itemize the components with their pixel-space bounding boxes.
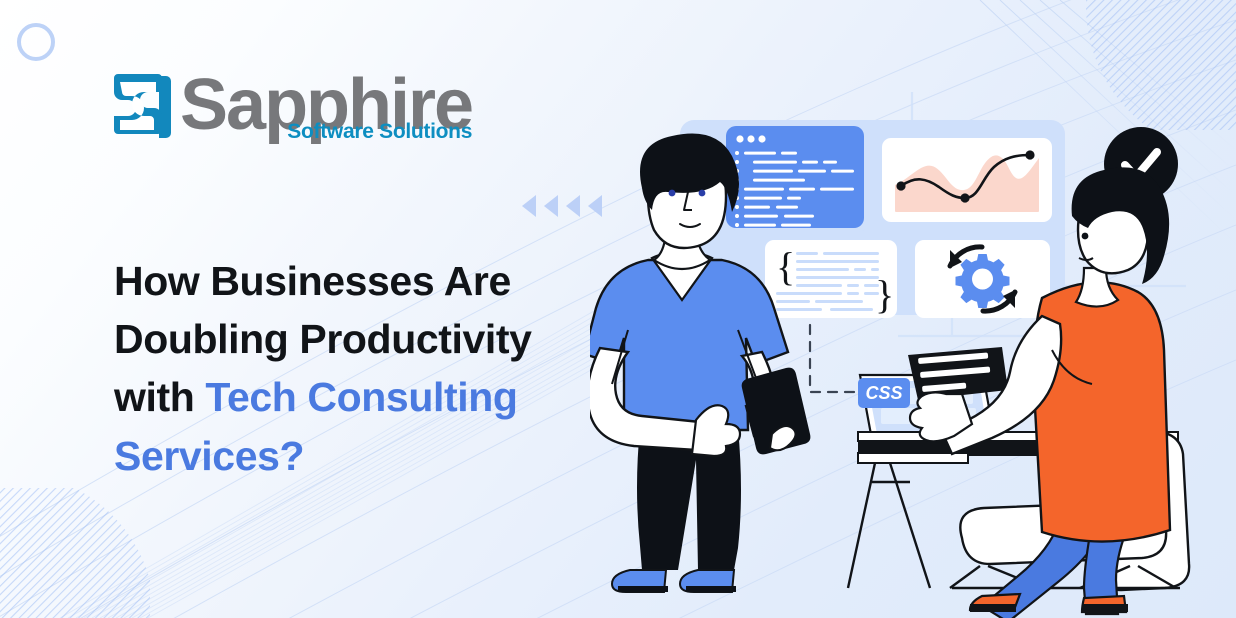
seated-shoe-sole-back: [1082, 604, 1128, 612]
headline-line-1: How Businesses Are: [114, 258, 511, 304]
headline-line-4-accent: Services?: [114, 433, 304, 479]
headline-line-3-accent: Tech Consulting: [205, 374, 517, 420]
css-badge-label: CSS: [865, 383, 902, 403]
sapphire-s-square-icon: [110, 72, 172, 142]
sapphire-logo[interactable]: Sapphire Software Solutions: [110, 72, 472, 142]
chart-point: [896, 181, 905, 190]
logo-tagline: Software Solutions: [287, 120, 472, 144]
open-brace-icon: {: [776, 244, 795, 289]
hero-illustration: { }: [590, 0, 1236, 618]
seated-shoe-sole-front: [970, 604, 1016, 612]
arrow-left-icon: [566, 195, 580, 217]
page-title: How Businesses Are Doubling Productivity…: [114, 252, 634, 485]
analytics-chart-card: [882, 138, 1052, 222]
circle-outline-icon: [19, 25, 53, 59]
arrow-left-icon: [544, 195, 558, 217]
json-braces-card: { }: [765, 240, 897, 318]
chart-point: [1025, 150, 1034, 159]
gear-icon: [956, 254, 1010, 308]
arrow-left-icon: [522, 195, 536, 217]
seated-eye: [1082, 233, 1089, 240]
css-badge: CSS: [858, 378, 910, 408]
headline-line-2: Doubling Productivity: [114, 316, 532, 362]
headline-line-3-plain: with: [114, 374, 205, 420]
striped-circle-bottom-left: [0, 473, 155, 618]
standing-shoe-sole-right: [686, 586, 736, 592]
standing-shoe-sole-left: [618, 586, 668, 592]
gear-refresh-card: [915, 240, 1050, 318]
desk-legs: [848, 463, 930, 588]
standing-eye-right: [699, 190, 706, 197]
standing-eye-left: [669, 190, 676, 197]
code-editor-window: [726, 126, 868, 232]
chart-point: [960, 193, 969, 202]
blog-banner: Sapphire Software Solutions How Business…: [0, 0, 1236, 618]
